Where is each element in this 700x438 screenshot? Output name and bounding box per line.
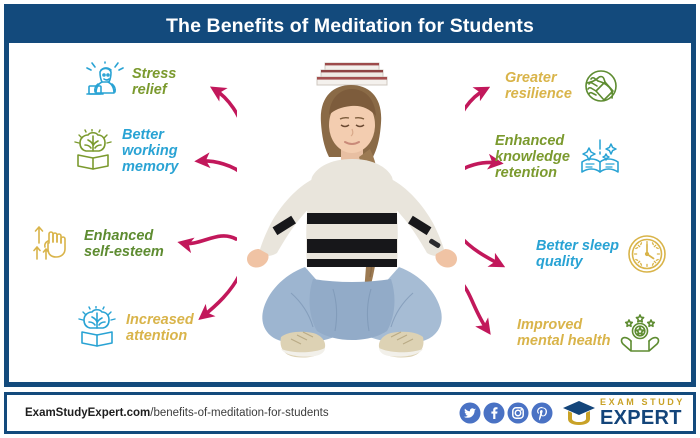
open-book-with-sparkles-icon xyxy=(577,134,623,180)
footer-url-domain: ExamStudyExpert.com xyxy=(25,407,150,419)
meditating-student-photo xyxy=(237,53,465,382)
benefit-label: Improved mental health xyxy=(517,317,610,349)
infographic-frame: The Benefits of Meditation for Students xyxy=(4,4,696,387)
benefit-label: Better working memory xyxy=(122,127,178,176)
benefit-label: Stress relief xyxy=(132,66,176,98)
wall-clock-icon xyxy=(626,233,668,275)
page-title: The Benefits of Meditation for Students xyxy=(166,15,534,38)
arrow-to-sleep xyxy=(460,236,501,265)
brain-on-open-book-icon xyxy=(71,129,115,173)
benefit-label: Enhanced knowledge retention xyxy=(495,133,570,182)
benefit-increased-attention: Increased attention xyxy=(75,306,194,350)
social-links xyxy=(459,402,553,424)
graduation-cap-icon xyxy=(562,398,596,428)
benefit-enhanced-self-esteem: Enhanced self-esteem xyxy=(31,223,164,265)
benefit-improved-mental-health: Improved mental health xyxy=(517,311,663,355)
benefit-stress-relief: Stress relief xyxy=(83,61,176,103)
benefit-label: Better sleep quality xyxy=(536,238,619,270)
sneaker-left xyxy=(281,332,326,358)
exam-study-expert-logo[interactable]: EXAM STUDY EXPERT xyxy=(562,398,685,428)
infographic-root: The Benefits of Meditation for Students xyxy=(0,0,700,438)
facebook-icon[interactable] xyxy=(483,402,505,424)
arrow-to-attention xyxy=(202,274,240,317)
raised-fist-with-up-arrows-icon xyxy=(31,223,77,265)
infographic-canvas: Stress relief xyxy=(9,43,691,382)
hands-holding-star-medal-icon xyxy=(617,311,663,355)
pinterest-icon[interactable] xyxy=(531,402,553,424)
stressed-person-at-laptop-icon xyxy=(83,61,125,103)
fist-bump-shield-icon xyxy=(579,65,623,107)
title-bar: The Benefits of Meditation for Students xyxy=(9,9,691,43)
twitter-icon[interactable] xyxy=(459,402,481,424)
footer-bar: ExamStudyExpert.com/benefits-of-meditati… xyxy=(4,392,696,434)
footer-url[interactable]: ExamStudyExpert.com/benefits-of-meditati… xyxy=(25,407,329,419)
benefit-label: Greater resilience xyxy=(505,70,572,102)
arrow-to-esteem xyxy=(182,236,236,244)
footer-url-path: /benefits-of-meditation-for-students xyxy=(150,407,328,419)
stacked-books-icon xyxy=(317,63,387,85)
benefit-label: Increased attention xyxy=(126,312,194,344)
benefit-enhanced-knowledge-retention: Enhanced knowledge retention xyxy=(495,133,623,182)
benefit-greater-resilience: Greater resilience xyxy=(505,65,623,107)
brain-on-open-book-icon xyxy=(75,306,119,350)
logo-line-1: EXAM STUDY xyxy=(600,398,685,407)
benefit-better-working-memory: Better working memory xyxy=(71,127,178,176)
benefit-label: Enhanced self-esteem xyxy=(84,228,164,260)
logo-line-2: EXPERT xyxy=(600,408,685,428)
instagram-icon[interactable] xyxy=(507,402,529,424)
benefit-better-sleep-quality: Better sleep quality xyxy=(536,233,668,275)
sneaker-right xyxy=(379,332,424,358)
